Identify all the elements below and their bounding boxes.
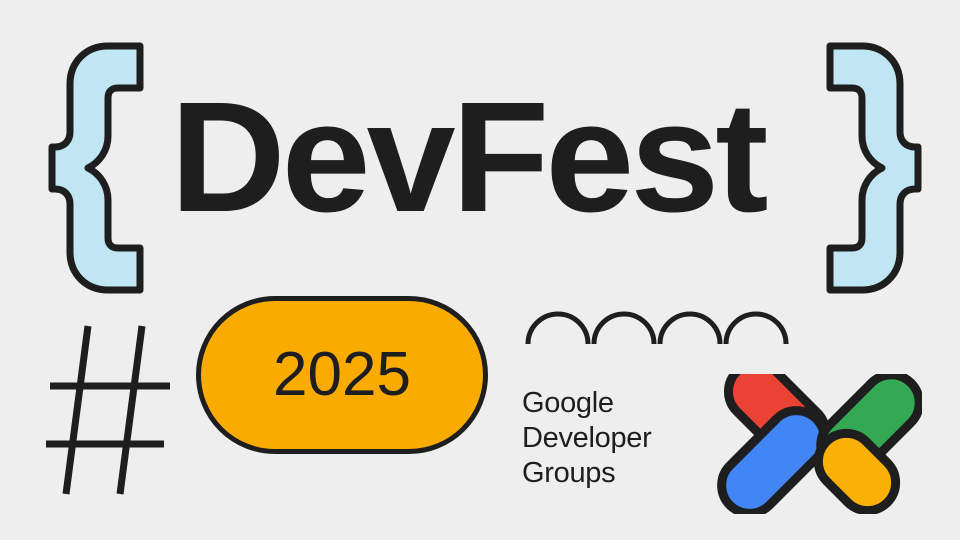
hash-icon bbox=[44, 322, 176, 503]
gdg-line-groups: Groups bbox=[522, 456, 652, 491]
devfest-wordmark: DevFest bbox=[170, 78, 795, 238]
left-brace-icon bbox=[48, 42, 158, 299]
gdg-wordmark: Google Developer Groups bbox=[522, 386, 652, 491]
gdg-line-developer: Developer bbox=[522, 421, 652, 456]
gdg-line-google: Google bbox=[522, 386, 652, 421]
year-badge[interactable]: 2025 bbox=[196, 296, 488, 454]
right-brace-icon bbox=[812, 42, 922, 299]
wordmark-text: DevFest bbox=[170, 78, 808, 238]
year-badge-label: 2025 bbox=[273, 344, 411, 406]
gdg-chevron-logo bbox=[702, 374, 922, 519]
devfest-poster: DevFest 2025 Google bbox=[0, 0, 960, 540]
gdg-lockup: Google Developer Groups bbox=[522, 386, 922, 506]
arch-wave-icon bbox=[524, 294, 792, 351]
